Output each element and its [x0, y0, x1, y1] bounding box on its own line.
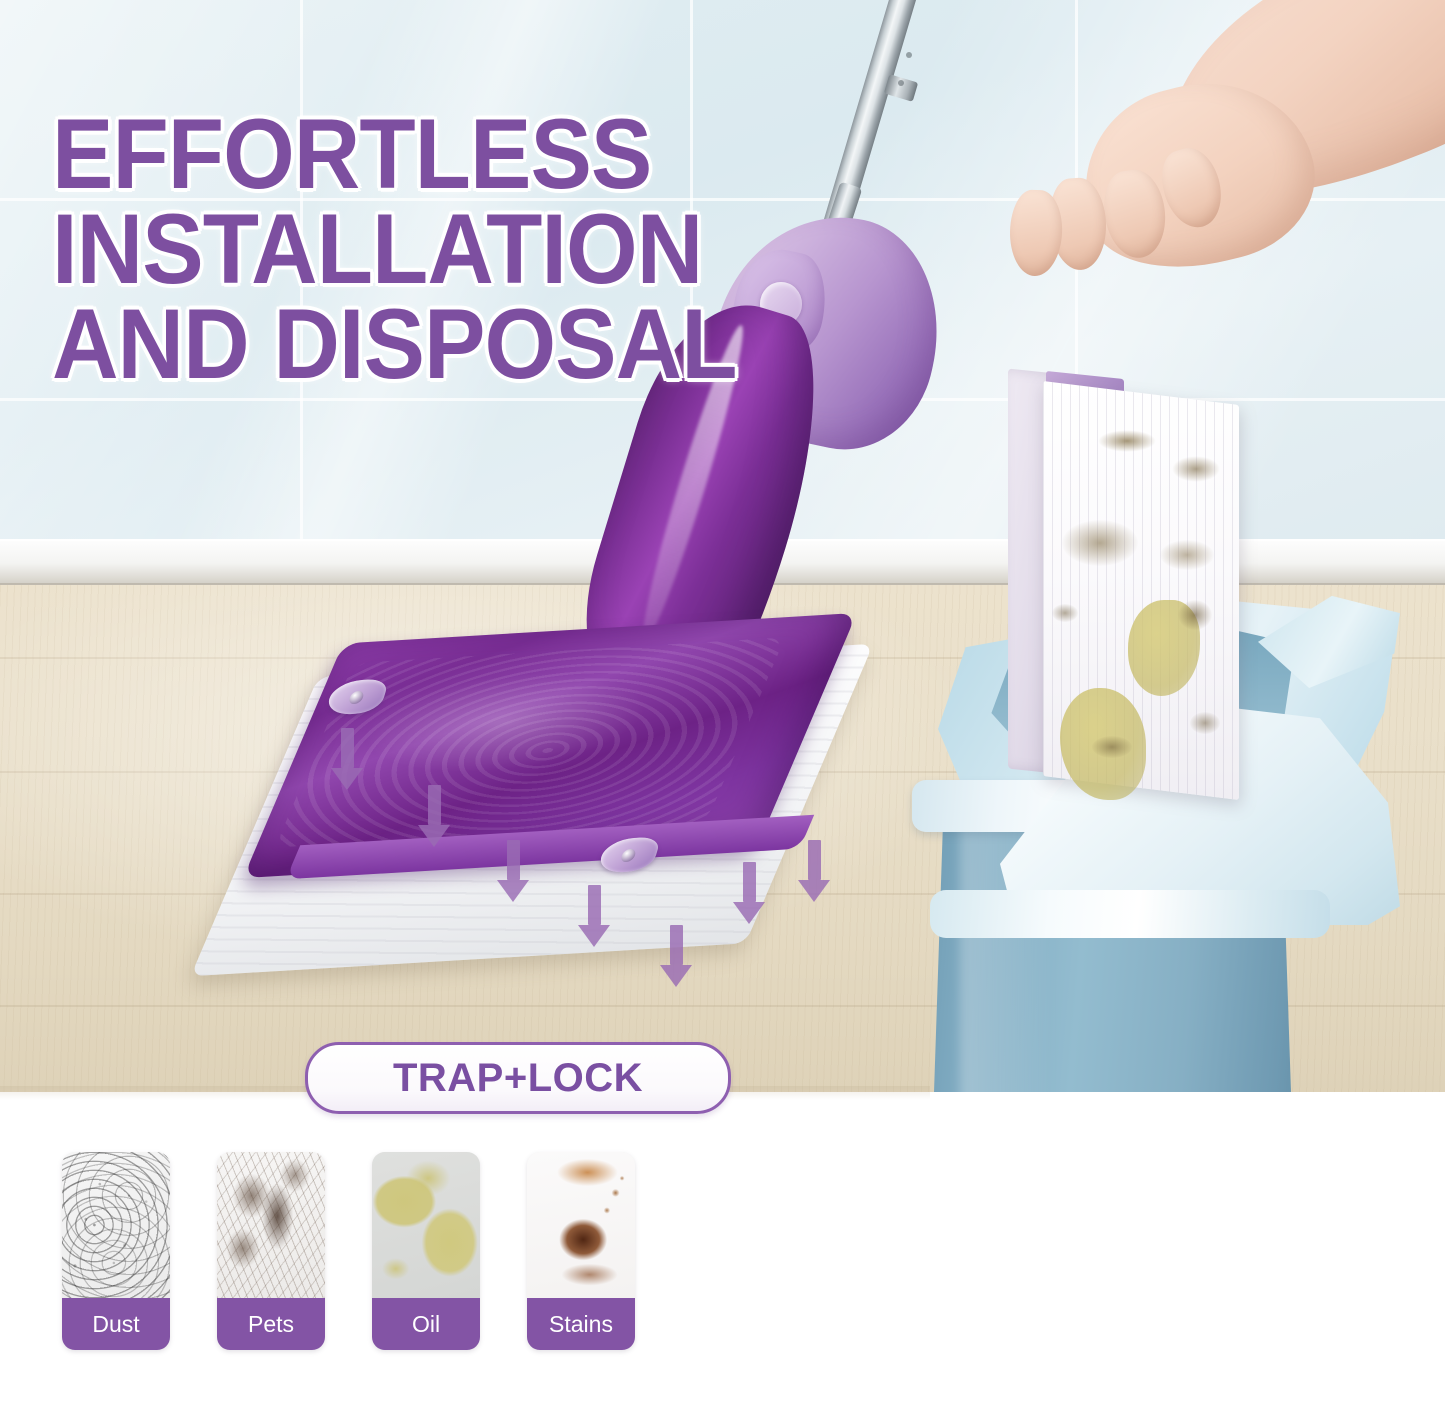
down-arrow-icon	[418, 785, 450, 847]
down-arrow-icon	[331, 728, 363, 790]
down-arrow-icon	[578, 885, 610, 947]
soil-type-card-dust[interactable]: Dust	[62, 1152, 170, 1350]
down-arrow-icon	[660, 925, 692, 987]
soil-type-card-list: Dust Pets Oil Stains	[62, 1152, 635, 1350]
headline-line-2: AND DISPOSAL	[52, 296, 1280, 391]
pad-debris	[1052, 604, 1078, 622]
mop-pole-notch-icon	[906, 52, 912, 58]
pad-debris	[1098, 430, 1156, 452]
pad-debris	[1092, 736, 1132, 758]
card-label-oil: Oil	[372, 1298, 480, 1350]
card-label-pets: Pets	[217, 1298, 325, 1350]
pet-hair-swatch-icon	[217, 1152, 325, 1298]
card-label-dust: Dust	[62, 1298, 170, 1350]
trap-lock-badge: TRAP+LOCK	[305, 1042, 731, 1114]
mop-pole-notch-icon	[898, 80, 904, 86]
trash-can-lid-lip	[930, 890, 1330, 938]
soil-type-card-oil[interactable]: Oil	[372, 1152, 480, 1350]
pad-debris	[1178, 600, 1212, 630]
soil-type-card-pets[interactable]: Pets	[217, 1152, 325, 1350]
pad-debris	[1172, 456, 1220, 482]
scene-photo: EFFORTLESS INSTALLATION AND DISPOSAL	[0, 0, 1445, 1092]
product-marketing-image: EFFORTLESS INSTALLATION AND DISPOSAL TRA…	[0, 0, 1445, 1406]
down-arrow-icon	[733, 862, 765, 924]
card-label-stains: Stains	[527, 1298, 635, 1350]
dust-swatch-icon	[62, 1152, 170, 1298]
clip-pivot-dot	[348, 691, 365, 705]
pad-debris	[1160, 540, 1214, 570]
down-arrow-icon	[497, 840, 529, 902]
oil-spill-swatch-icon	[372, 1152, 480, 1298]
stain-swatch-icon	[527, 1152, 635, 1298]
trap-lock-badge-label: TRAP+LOCK	[393, 1056, 643, 1101]
pad-debris	[1190, 712, 1220, 734]
headline-line-1: EFFORTLESS INSTALLATION	[52, 98, 702, 304]
clip-pivot-dot	[620, 849, 637, 863]
down-arrow-icon	[798, 840, 830, 902]
soil-type-card-stains[interactable]: Stains	[527, 1152, 635, 1350]
pad-debris	[1062, 520, 1138, 566]
headline: EFFORTLESS INSTALLATION AND DISPOSAL	[52, 106, 1280, 391]
